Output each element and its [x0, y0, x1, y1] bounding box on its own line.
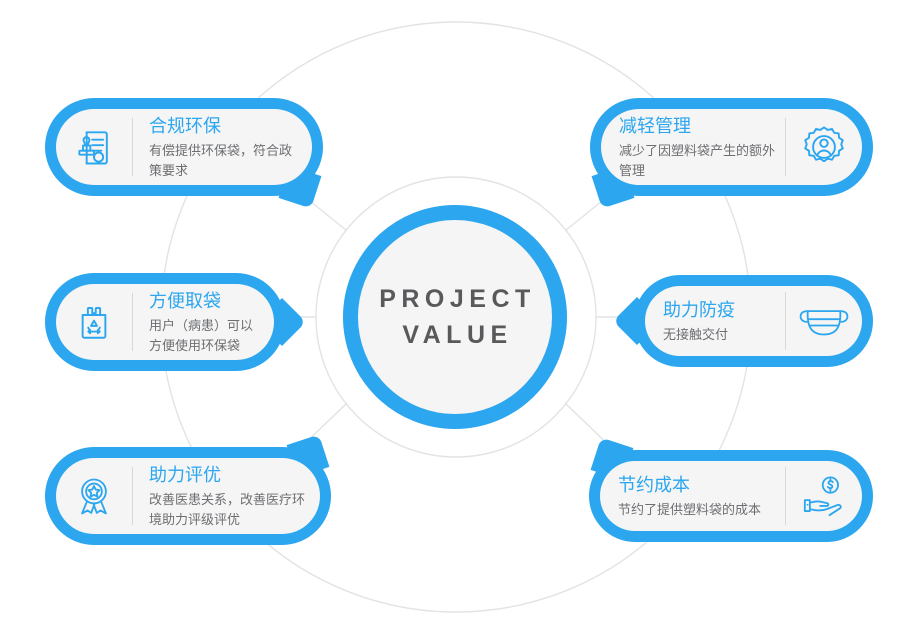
card-description: 改善医患关系，改善医疗环境助力评级评优: [149, 490, 306, 529]
recycle-bag-icon: [56, 301, 132, 343]
card-title: 合规环保: [149, 114, 298, 138]
hub-title-line-1: PROJECT: [374, 281, 536, 317]
gear-person-icon: [786, 124, 862, 170]
card-description: 有偿提供环保袋，符合政策要求: [149, 141, 298, 180]
value-card-save-cost[interactable]: 节约成本 节约了提供塑料袋的成本: [589, 450, 873, 542]
card-title: 助力防疫: [663, 298, 775, 322]
diagram-canvas: PROJECT VALUE 合规环保 有偿提供环保袋，符合政策要求: [0, 0, 913, 634]
card-description: 节约了提供塑料袋的成本: [618, 500, 775, 520]
card-title: 助力评优: [149, 463, 306, 487]
hub-title-line-2: VALUE: [397, 317, 512, 353]
card-title: 减轻管理: [619, 114, 775, 138]
stamp-document-icon: [56, 125, 132, 169]
value-card-convenient-bag-access[interactable]: 方便取袋 用户（病患）可以方便使用环保袋: [45, 273, 285, 371]
face-mask-icon: [786, 301, 862, 341]
award-medal-icon: [56, 474, 132, 518]
card-description: 用户（病患）可以方便使用环保袋: [149, 316, 260, 355]
hand-money-icon: [786, 475, 862, 517]
card-title: 节约成本: [618, 473, 775, 497]
card-description: 无接触交付: [663, 325, 775, 345]
value-card-epidemic-prevention[interactable]: 助力防疫 无接触交付: [634, 275, 873, 367]
value-card-reduce-management[interactable]: 减轻管理 减少了因塑料袋产生的额外管理: [590, 98, 873, 196]
project-value-hub: PROJECT VALUE: [343, 205, 567, 429]
card-description: 减少了因塑料袋产生的额外管理: [619, 141, 775, 180]
card-title: 方便取袋: [149, 289, 260, 313]
value-card-compliance-environment[interactable]: 合规环保 有偿提供环保袋，符合政策要求: [45, 98, 323, 196]
value-card-support-rating[interactable]: 助力评优 改善医患关系，改善医疗环境助力评级评优: [45, 447, 331, 545]
